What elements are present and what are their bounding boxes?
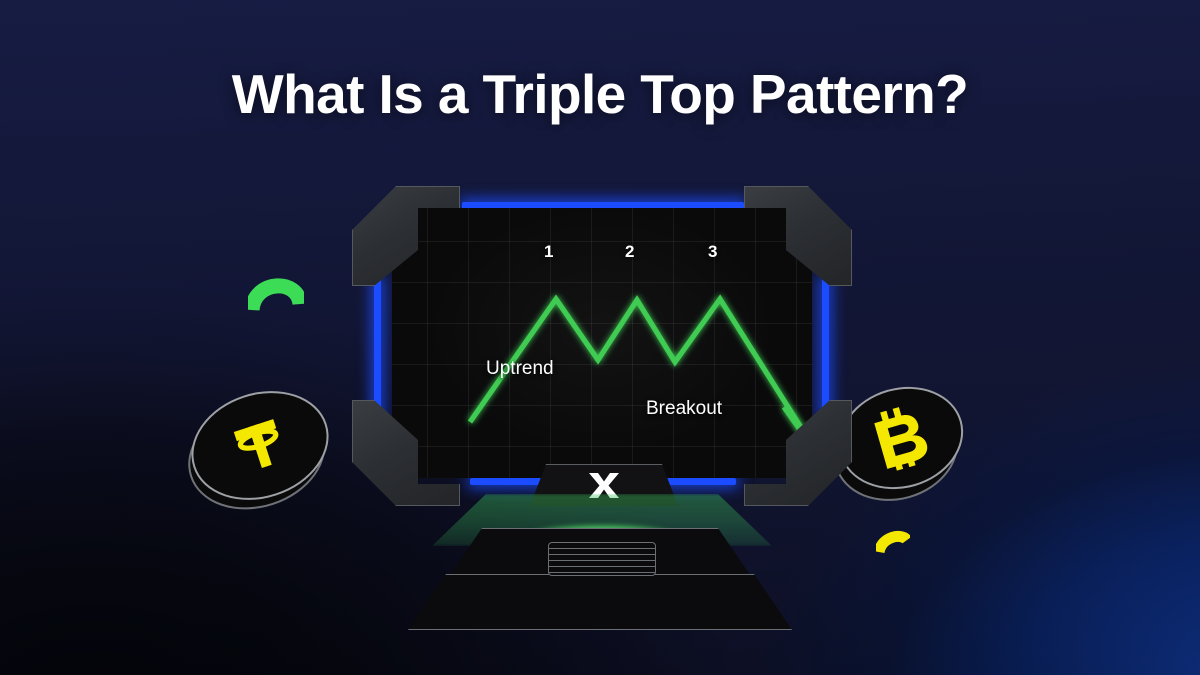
bezel-glow-left — [374, 278, 381, 418]
monitor-screen: 1 2 3 Uptrend Breakout — [392, 208, 812, 478]
stand-base-plate — [408, 574, 792, 630]
monitor: 1 2 3 Uptrend Breakout — [352, 186, 852, 506]
uptrend-label: Uptrend — [486, 358, 554, 380]
page-title: What Is a Triple Top Pattern? — [0, 62, 1200, 126]
stand-vent-grille — [548, 542, 656, 576]
triple-top-chart — [392, 208, 812, 478]
peak-label-3: 3 — [708, 242, 717, 262]
peak-label-1: 1 — [544, 242, 553, 262]
bezel-glow-top — [462, 202, 744, 209]
green-arc-icon — [248, 270, 304, 312]
breakout-label: Breakout — [646, 398, 722, 420]
peak-label-2: 2 — [625, 242, 634, 262]
bezel-glow-right — [822, 278, 829, 418]
yellow-arc-icon — [876, 530, 910, 556]
monitor-stand — [400, 528, 800, 630]
